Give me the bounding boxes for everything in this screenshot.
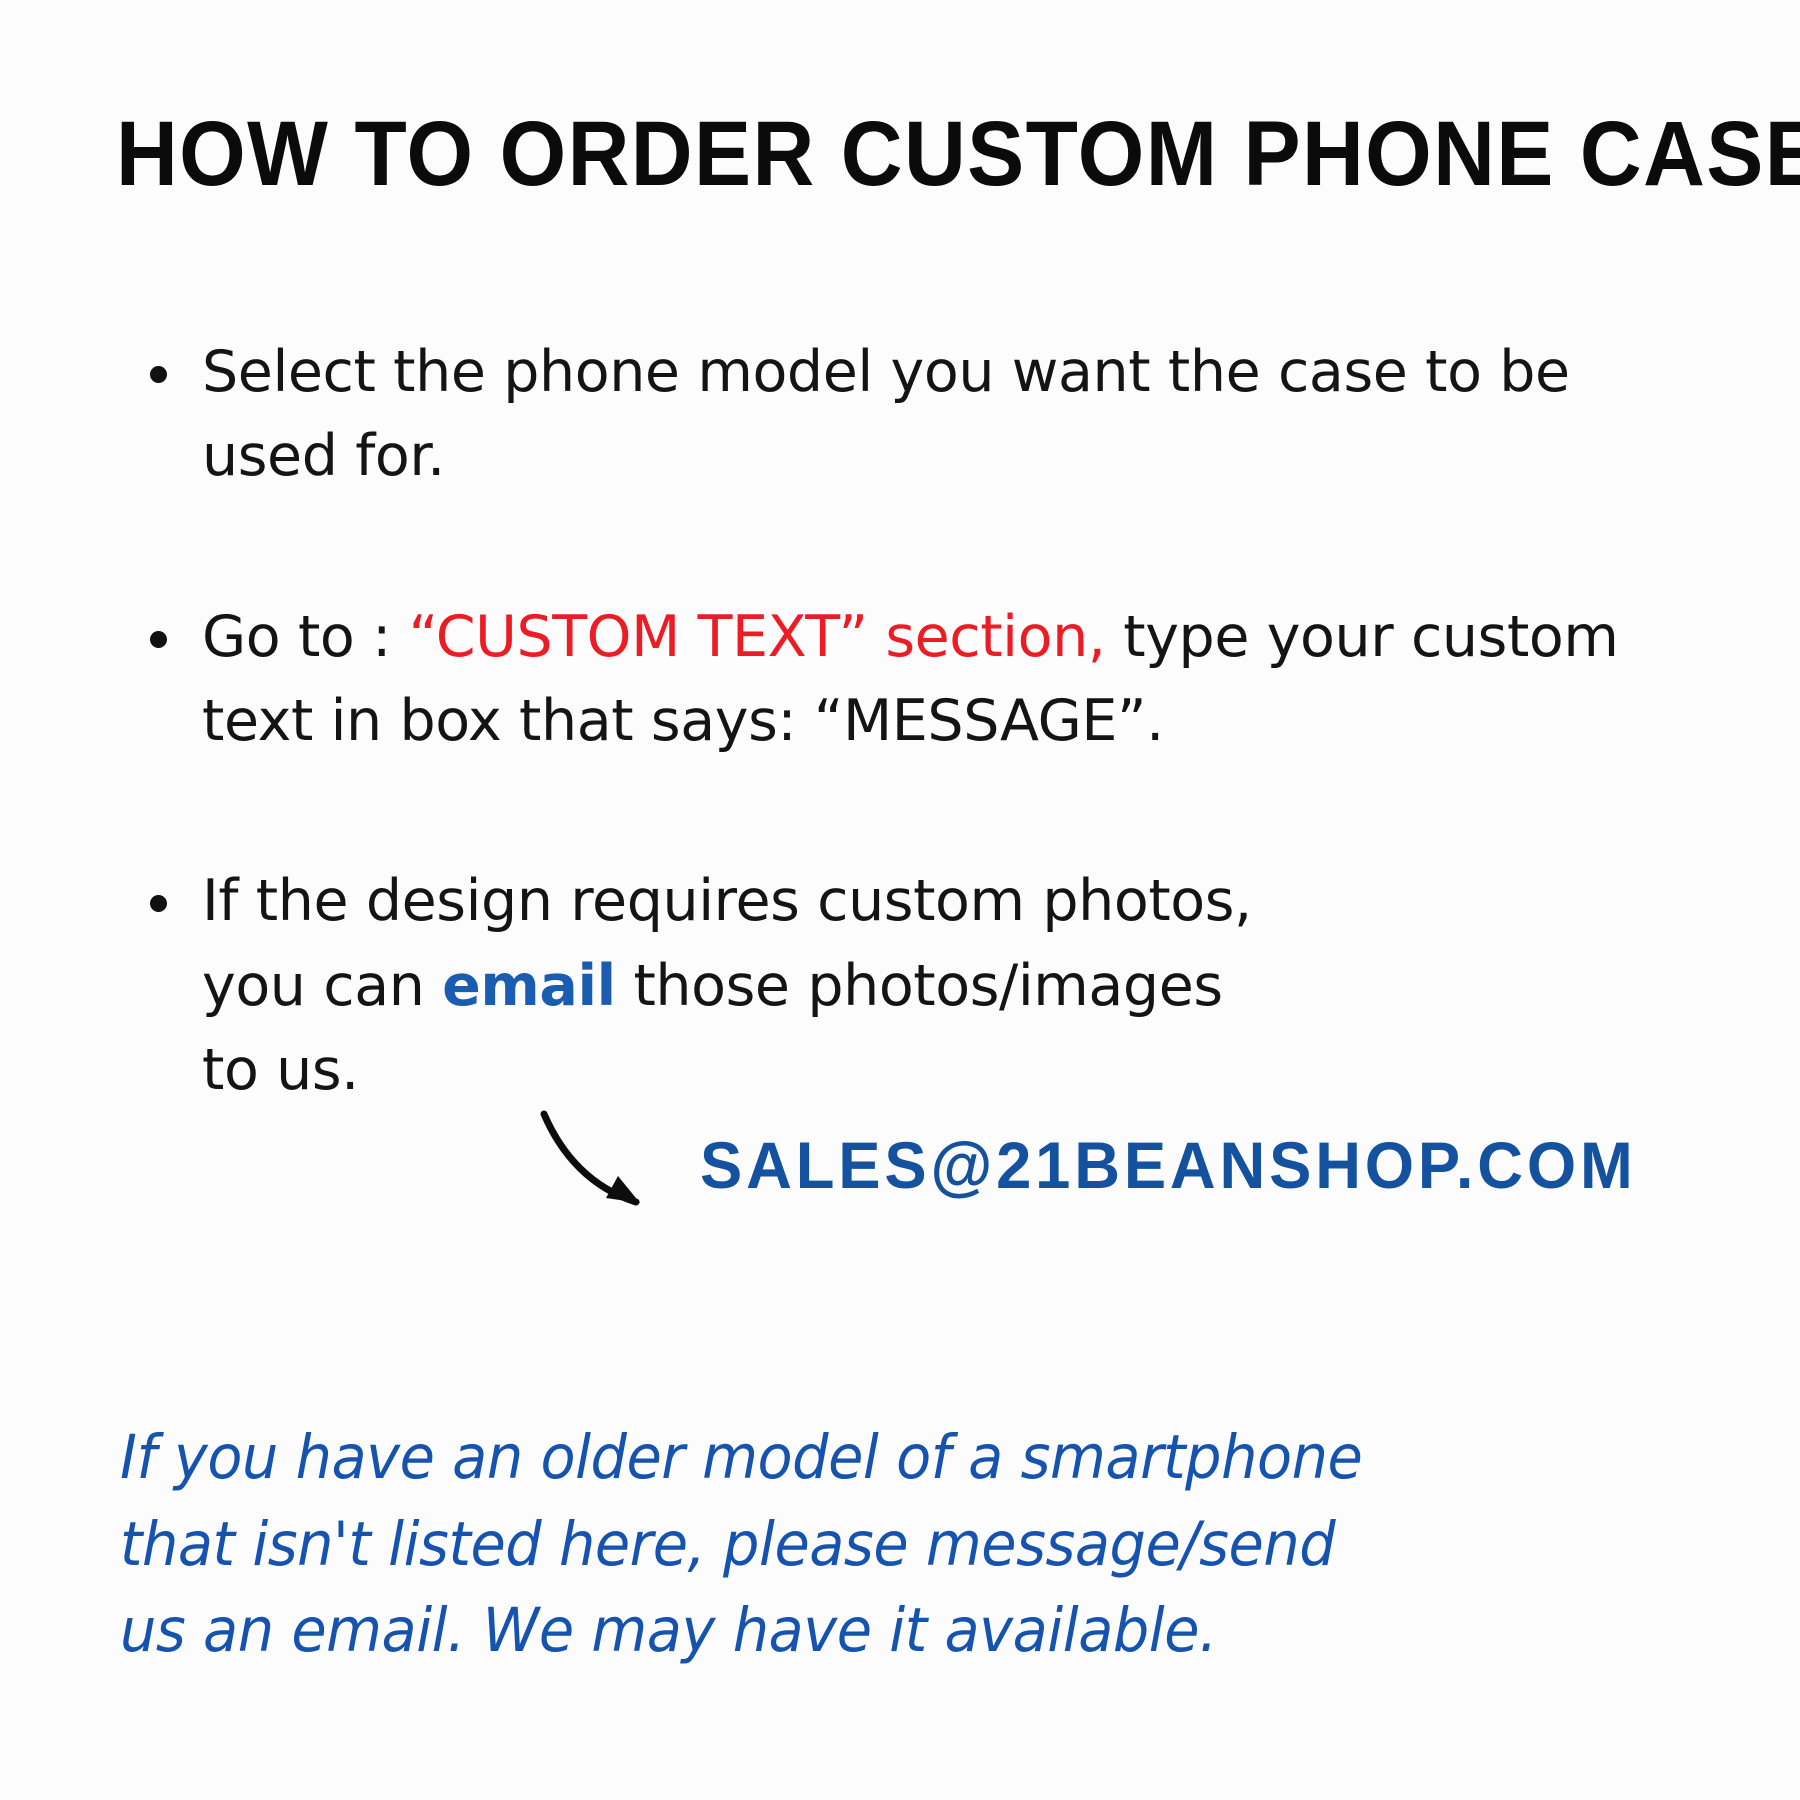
- poster-canvas: HOW TO ORDER CUSTOM PHONE CASE Select th…: [0, 0, 1800, 1800]
- list-item-text: Go to : “CUSTOM TEXT” section, type your…: [202, 595, 1630, 764]
- list-item-custom-text: Go to : “CUSTOM TEXT” section, type your…: [150, 595, 1630, 764]
- bullet3-segment-email-keyword: email: [442, 953, 616, 1019]
- curved-arrow-down-right-icon: [540, 1110, 680, 1230]
- list-item-text: Select the phone model you want the case…: [202, 330, 1630, 499]
- contact-email-address[interactable]: SALES@21BEANSHOP.COM: [700, 1132, 1637, 1198]
- footer-note-line-2: that isn't listed here, please message/s…: [120, 1502, 1586, 1589]
- bullet-dot-icon: [150, 895, 167, 912]
- bullet3-segment-4: to us.: [202, 1037, 359, 1103]
- list-item-text: If the design requires custom photos,you…: [202, 859, 1630, 1112]
- bullet-dot-icon: [150, 366, 167, 383]
- footer-note-line-3: us an email. We may have it available.: [120, 1588, 1586, 1675]
- bullet-dot-icon: [150, 631, 167, 648]
- bullet3-segment-3: those photos/images: [616, 953, 1223, 1019]
- bullet3-segment-0: If the design requires custom photos,: [202, 868, 1252, 934]
- page-title: HOW TO ORDER CUSTOM PHONE CASE: [116, 108, 1604, 200]
- list-item-select-model: Select the phone model you want the case…: [150, 330, 1630, 499]
- list-item-custom-photos: If the design requires custom photos,you…: [150, 859, 1630, 1112]
- bullet2-segment-highlight: “CUSTOM TEXT” section,: [409, 604, 1106, 670]
- bullet2-segment-prefix: Go to :: [202, 604, 409, 670]
- bullet1-segment-0: Select the phone model you want the case…: [202, 339, 1570, 489]
- instruction-list: Select the phone model you want the case…: [150, 330, 1630, 1113]
- bullet3-segment-1: you can: [202, 953, 442, 1019]
- footer-note: If you have an older model of a smartpho…: [120, 1415, 1586, 1675]
- footer-note-line-1: If you have an older model of a smartpho…: [120, 1415, 1586, 1502]
